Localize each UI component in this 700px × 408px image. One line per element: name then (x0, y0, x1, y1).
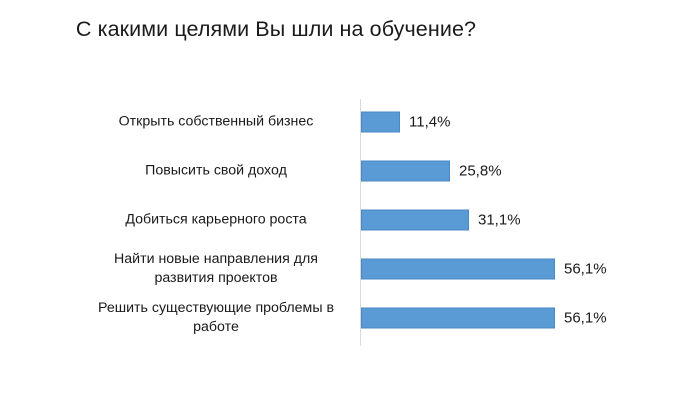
bar-row: Повысить свой доход 25,8% (0, 146, 700, 195)
bar-track: 31,1% (361, 209, 521, 230)
bar-track: 56,1% (361, 258, 607, 279)
bar-fill[interactable] (361, 307, 555, 328)
bar-fill[interactable] (361, 258, 555, 279)
bar-fill[interactable] (361, 111, 400, 132)
category-label: Повысить свой доход (80, 161, 352, 180)
bar-track: 56,1% (361, 307, 607, 328)
bar-track: 25,8% (361, 160, 502, 181)
plot-area: Открыть собственный бизнес 11,4% Повысит… (0, 97, 700, 347)
bar-row: Найти новые направления для развития про… (0, 244, 700, 293)
category-label: Добиться карьерного роста (80, 210, 352, 229)
bar-value-label: 11,4% (409, 111, 450, 132)
bar-track: 11,4% (361, 111, 450, 132)
bar-value-label: 25,8% (459, 160, 502, 181)
bar-chart: С какими целями Вы шли на обучение? Откр… (0, 0, 700, 408)
bar-row: Добиться карьерного роста 31,1% (0, 195, 700, 244)
category-label: Открыть собственный бизнес (80, 112, 352, 131)
bar-fill[interactable] (361, 160, 450, 181)
bar-value-label: 56,1% (564, 258, 607, 279)
category-label: Найти новые направления для развития про… (80, 250, 352, 288)
bar-row: Открыть собственный бизнес 11,4% (0, 97, 700, 146)
chart-title: С какими целями Вы шли на обучение? (66, 14, 486, 45)
bar-row: Решить существующие проблемы в работе 56… (0, 293, 700, 342)
bar-value-label: 56,1% (564, 307, 607, 328)
bar-value-label: 31,1% (478, 209, 521, 230)
bar-fill[interactable] (361, 209, 469, 230)
category-label: Решить существующие проблемы в работе (80, 299, 352, 337)
